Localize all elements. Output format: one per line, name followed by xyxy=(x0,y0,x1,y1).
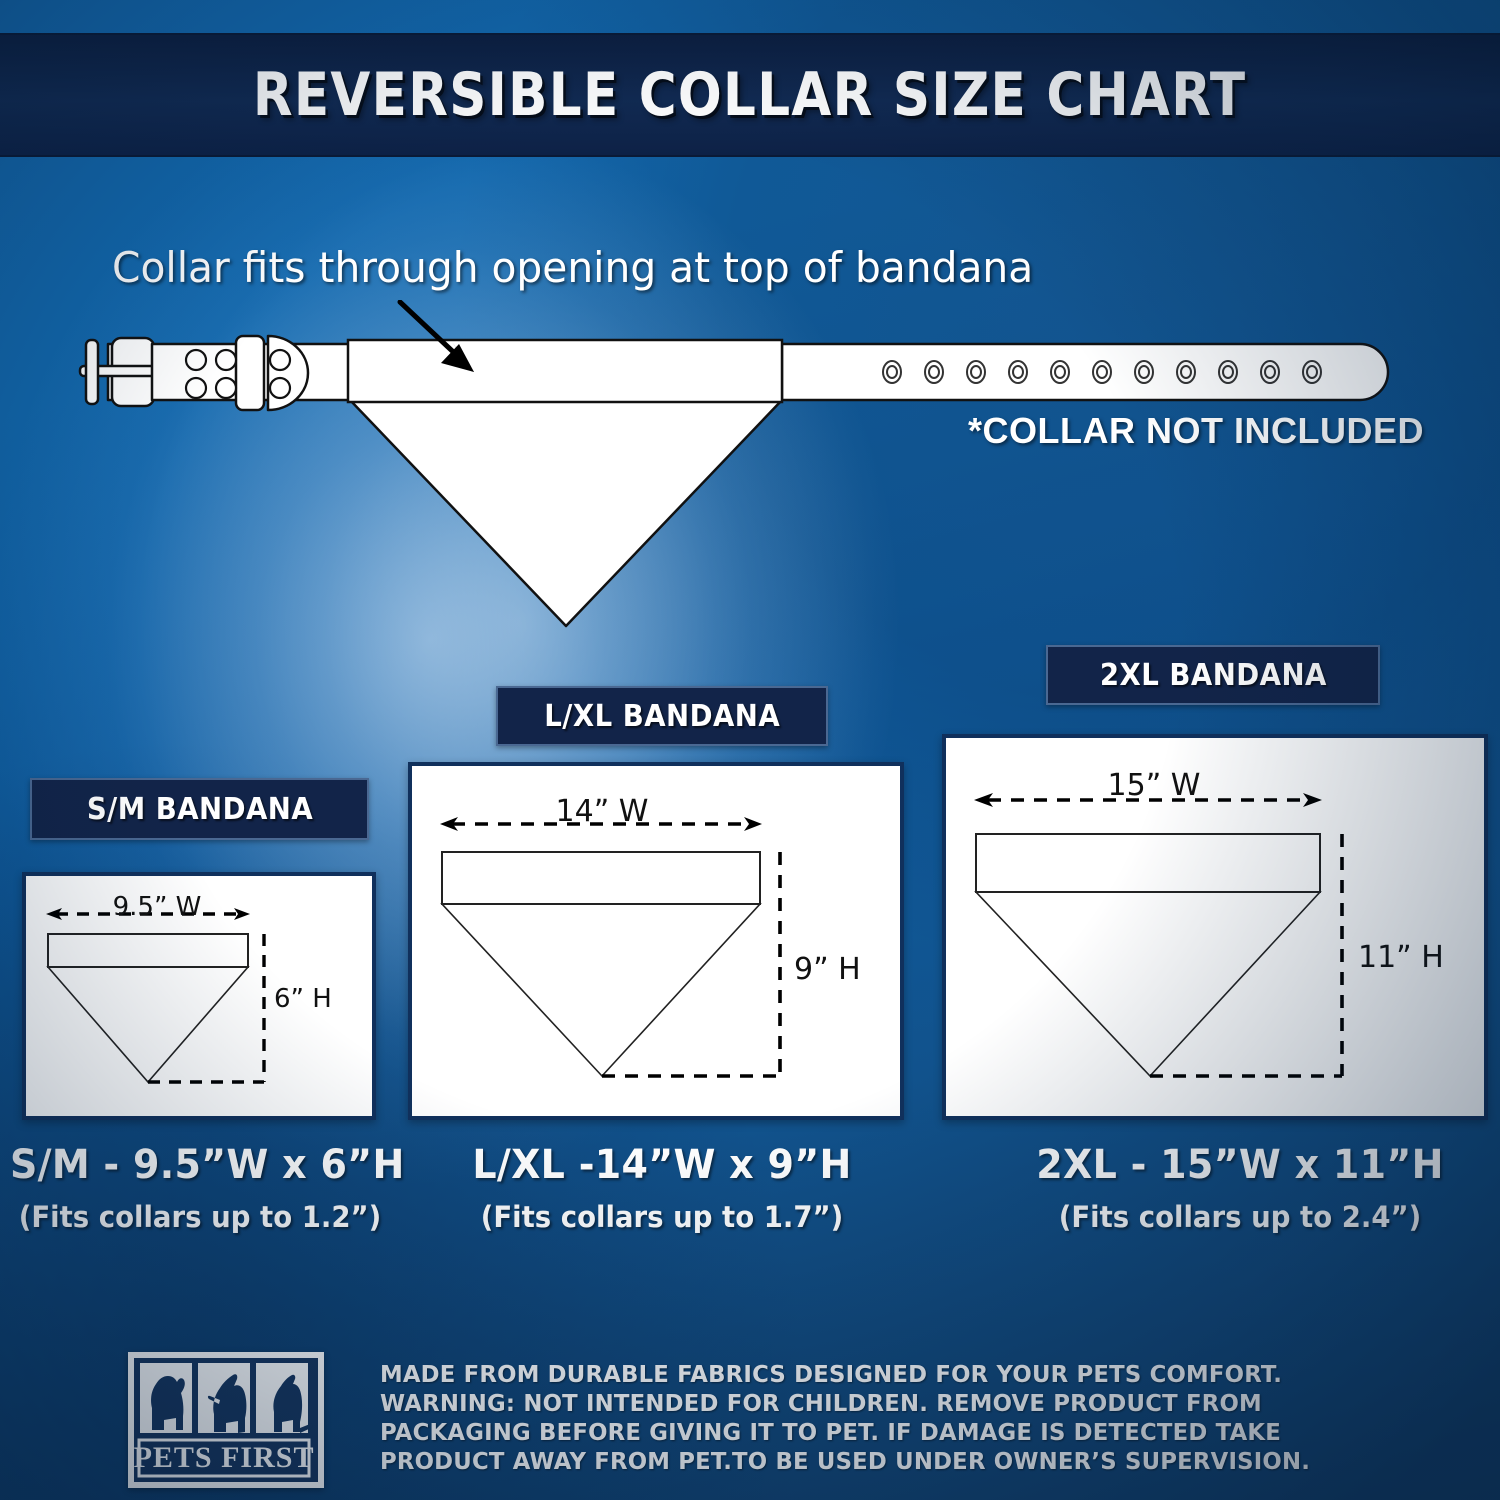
size-chart-page: REVERSIBLE COLLAR SIZE CHART Collar fits… xyxy=(0,0,1500,1500)
size-diagram-panel-2xl: 15” W 11” H xyxy=(942,734,1488,1120)
height-label-2xl: 11” H xyxy=(1358,940,1444,975)
footer-line-1: MADE FROM DURABLE FABRICS DESIGNED FOR Y… xyxy=(380,1361,1380,1390)
bandana-triangle-icon xyxy=(350,400,782,626)
pets-first-logo: PETS FIRST xyxy=(128,1352,324,1488)
footer-line-3: PACKAGING BEFORE GIVING IT TO PET. IF DA… xyxy=(380,1419,1380,1448)
collar-instruction-text: Collar fits through opening at top of ba… xyxy=(112,243,1169,292)
page-title: REVERSIBLE COLLAR SIZE CHART xyxy=(253,60,1247,130)
footer-line-2: WARNING: NOT INTENDED FOR CHILDREN. REMO… xyxy=(380,1390,1380,1419)
height-label-sm: 6” H xyxy=(274,984,332,1014)
height-dimension-2xl xyxy=(1150,834,1342,1076)
height-dimension-sm xyxy=(148,934,264,1082)
height-dimension-lxl xyxy=(602,852,780,1076)
header-band: REVERSIBLE COLLAR SIZE CHART xyxy=(0,33,1500,157)
main-bandana-illustration xyxy=(0,300,1500,660)
size-caption-line2-lxl: (Fits collars up to 1.7”) xyxy=(463,1200,862,1234)
size-caption-line1-lxl: L/XL -14”W x 9”H xyxy=(463,1142,862,1188)
size-caption-line1-2xl: 2XL - 15”W x 11”H xyxy=(1022,1142,1459,1188)
collar-not-included-note: *COLLAR NOT INCLUDED xyxy=(968,410,1424,452)
logo-wordmark: PETS FIRST xyxy=(134,1441,314,1474)
size-badge-lxl: L/XL BANDANA xyxy=(496,686,828,746)
size-diagram-panel-lxl: 14” W 9” H xyxy=(408,762,904,1120)
footer-disclaimer: MADE FROM DURABLE FABRICS DESIGNED FOR Y… xyxy=(380,1361,1390,1477)
size-caption-sm: S/M - 9.5”W x 6”H (Fits collars up to 1.… xyxy=(0,1142,400,1234)
size-caption-2xl: 2XL - 15”W x 11”H (Fits collars up to 2.… xyxy=(1010,1142,1470,1234)
size-badge-2xl: 2XL BANDANA xyxy=(1046,645,1380,705)
size-diagram-panel-sm: 9.5” W 6” H xyxy=(22,872,376,1120)
width-label-lxl: 14” W xyxy=(462,794,742,829)
width-label-sm: 9.5” W xyxy=(62,892,252,922)
size-badge-sm: S/M BANDANA xyxy=(30,778,369,840)
three-dog-silhouettes-icon: PETS FIRST xyxy=(134,1358,318,1482)
footer-line-4: PRODUCT AWAY FROM PET.TO BE USED UNDER O… xyxy=(380,1448,1380,1477)
size-caption-line1-sm: S/M - 9.5”W x 6”H xyxy=(10,1142,390,1188)
size-caption-lxl: L/XL -14”W x 9”H (Fits collars up to 1.7… xyxy=(452,1142,872,1234)
bandana-sleeve-icon xyxy=(348,340,782,402)
height-label-lxl: 9” H xyxy=(794,952,861,987)
size-caption-line2-sm: (Fits collars up to 1.2”) xyxy=(10,1200,390,1234)
size-caption-line2-2xl: (Fits collars up to 2.4”) xyxy=(1022,1200,1459,1234)
width-label-2xl: 15” W xyxy=(1004,768,1304,803)
